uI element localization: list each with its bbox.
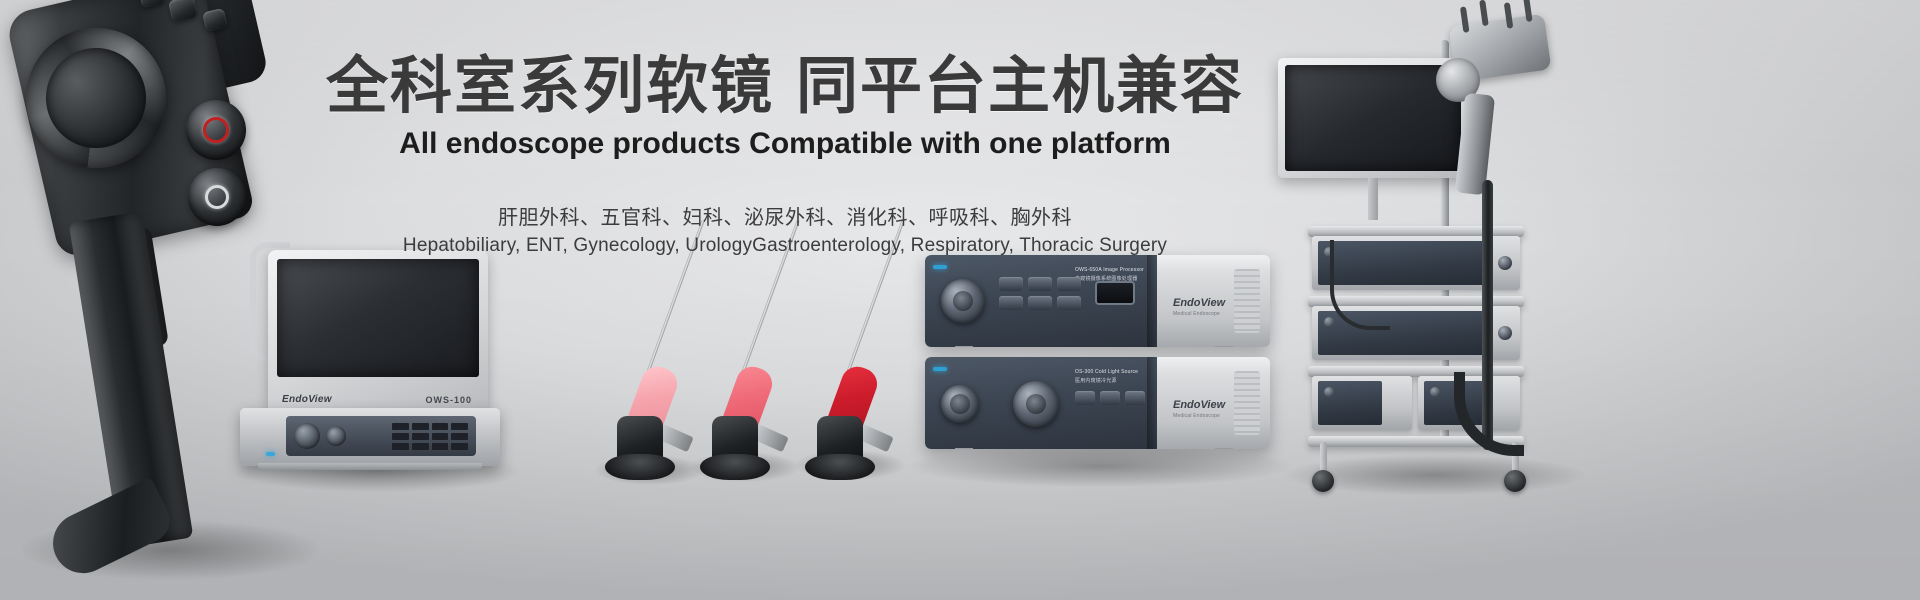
ows-base-unit — [240, 408, 500, 466]
scope-lever-2 — [1479, 0, 1489, 26]
cart-caster-wheel — [1504, 470, 1526, 492]
console-light-port — [941, 385, 979, 423]
surgical-instrument-red — [785, 242, 895, 480]
ows-control-panel — [286, 416, 476, 456]
banner-text-block: 全科室系列软镜同平台主机兼容 All endoscope products Co… — [0, 52, 1570, 257]
headline-part-2: 同平台主机兼容 — [796, 52, 1244, 121]
ows-key — [451, 443, 468, 450]
console-button — [1057, 296, 1081, 310]
endoview-light-source: EndoView Medical Endoscope OS-300 Cold L… — [925, 357, 1270, 449]
endoview-console-stack: EndoView Medical Endoscope OWS-650A Imag… — [925, 255, 1270, 455]
cart-unit-panel — [1318, 381, 1382, 425]
console-intensity-knob — [1013, 381, 1059, 427]
ows-key — [392, 423, 409, 430]
console-button — [1028, 296, 1052, 310]
console-button — [1125, 391, 1145, 405]
console-button — [999, 296, 1023, 310]
ows-key — [392, 433, 409, 440]
console-foot — [1215, 346, 1233, 347]
console-video-port — [1095, 281, 1135, 305]
ows-screen-bezel: EndoView OWS-100 — [268, 250, 488, 410]
console-foot — [955, 346, 973, 347]
endoview-image-processor: EndoView Medical Endoscope OWS-650A Imag… — [925, 255, 1270, 347]
console-power-led — [933, 367, 947, 371]
console-front-panel: OS-300 Cold Light Source 医用内窥镜冷光源 — [925, 357, 1157, 449]
ows-dial-secondary — [326, 426, 346, 446]
scope-lever-1 — [1460, 6, 1470, 33]
ows-power-led — [266, 452, 275, 456]
console-button-grid — [1075, 391, 1145, 405]
instrument-stand — [805, 454, 875, 480]
ows-key — [432, 423, 449, 430]
ows-key — [451, 423, 468, 430]
console-brand-label: EndoView — [1173, 297, 1225, 309]
console-brand-sub: Medical Endoscope — [1173, 413, 1220, 419]
console-panel-title-cn: 医用内窥镜冷光源 — [1075, 377, 1117, 384]
console-vents — [1234, 269, 1260, 333]
ows-model-label: OWS-100 — [425, 395, 472, 405]
headline-part-1: 全科室系列软镜 — [326, 52, 774, 121]
console-main-knob — [941, 279, 985, 323]
ows-key — [412, 423, 429, 430]
ows-monitor-console: EndoView OWS-100 — [240, 250, 500, 465]
cart-caster-wheel — [1312, 470, 1334, 492]
console-button — [1028, 277, 1052, 291]
endoscope-product-banner: 全科室系列软镜同平台主机兼容 All endoscope products Co… — [0, 0, 1920, 600]
console-foot — [1215, 448, 1233, 449]
subheadline: All endoscope products Compatible with o… — [0, 127, 1570, 161]
ows-key — [432, 443, 449, 450]
console-button — [1100, 391, 1120, 405]
ows-display-screen — [277, 259, 479, 377]
scope-lever-4 — [1523, 0, 1533, 22]
ows-base-foot — [258, 463, 482, 470]
specialties-english: Hepatobiliary, ENT, Gynecology, UrologyG… — [0, 235, 1570, 257]
console-button-grid — [999, 277, 1081, 310]
headline: 全科室系列软镜同平台主机兼容 — [0, 52, 1570, 121]
ows-key — [412, 443, 429, 450]
ows-key — [392, 443, 409, 450]
instrument-stand — [700, 454, 770, 480]
console-vents — [1234, 371, 1260, 435]
ows-key — [451, 433, 468, 440]
ows-keypad — [392, 423, 468, 450]
console-button — [999, 277, 1023, 291]
instrument-stand — [605, 454, 675, 480]
console-front-panel: OWS-650A Image Processor 内窥镜摄像系统图像处理器 — [925, 255, 1157, 347]
ows-key — [412, 433, 429, 440]
console-button — [1057, 277, 1081, 291]
ows-brand-label: EndoView — [282, 394, 332, 405]
specialties-chinese: 肝胆外科、五官科、妇科、泌尿外科、消化科、呼吸科、胸外科 — [0, 201, 1570, 230]
console-panel-title-en: OWS-650A Image Processor — [1075, 267, 1144, 273]
console-brand-label: EndoView — [1173, 399, 1225, 411]
console-power-led — [933, 265, 947, 269]
console-button — [1075, 391, 1095, 405]
cart-unit-auxiliary-left — [1312, 376, 1412, 430]
ows-dial-main — [294, 423, 320, 449]
ows-key — [432, 433, 449, 440]
scope-lever-3 — [1504, 2, 1514, 29]
surgical-instrument-pink — [585, 250, 695, 480]
console-panel-title-en: OS-300 Cold Light Source — [1075, 369, 1138, 375]
console-brand-sub: Medical Endoscope — [1173, 311, 1220, 317]
console-foot — [955, 448, 973, 449]
surgical-instrument-coral — [680, 245, 790, 480]
